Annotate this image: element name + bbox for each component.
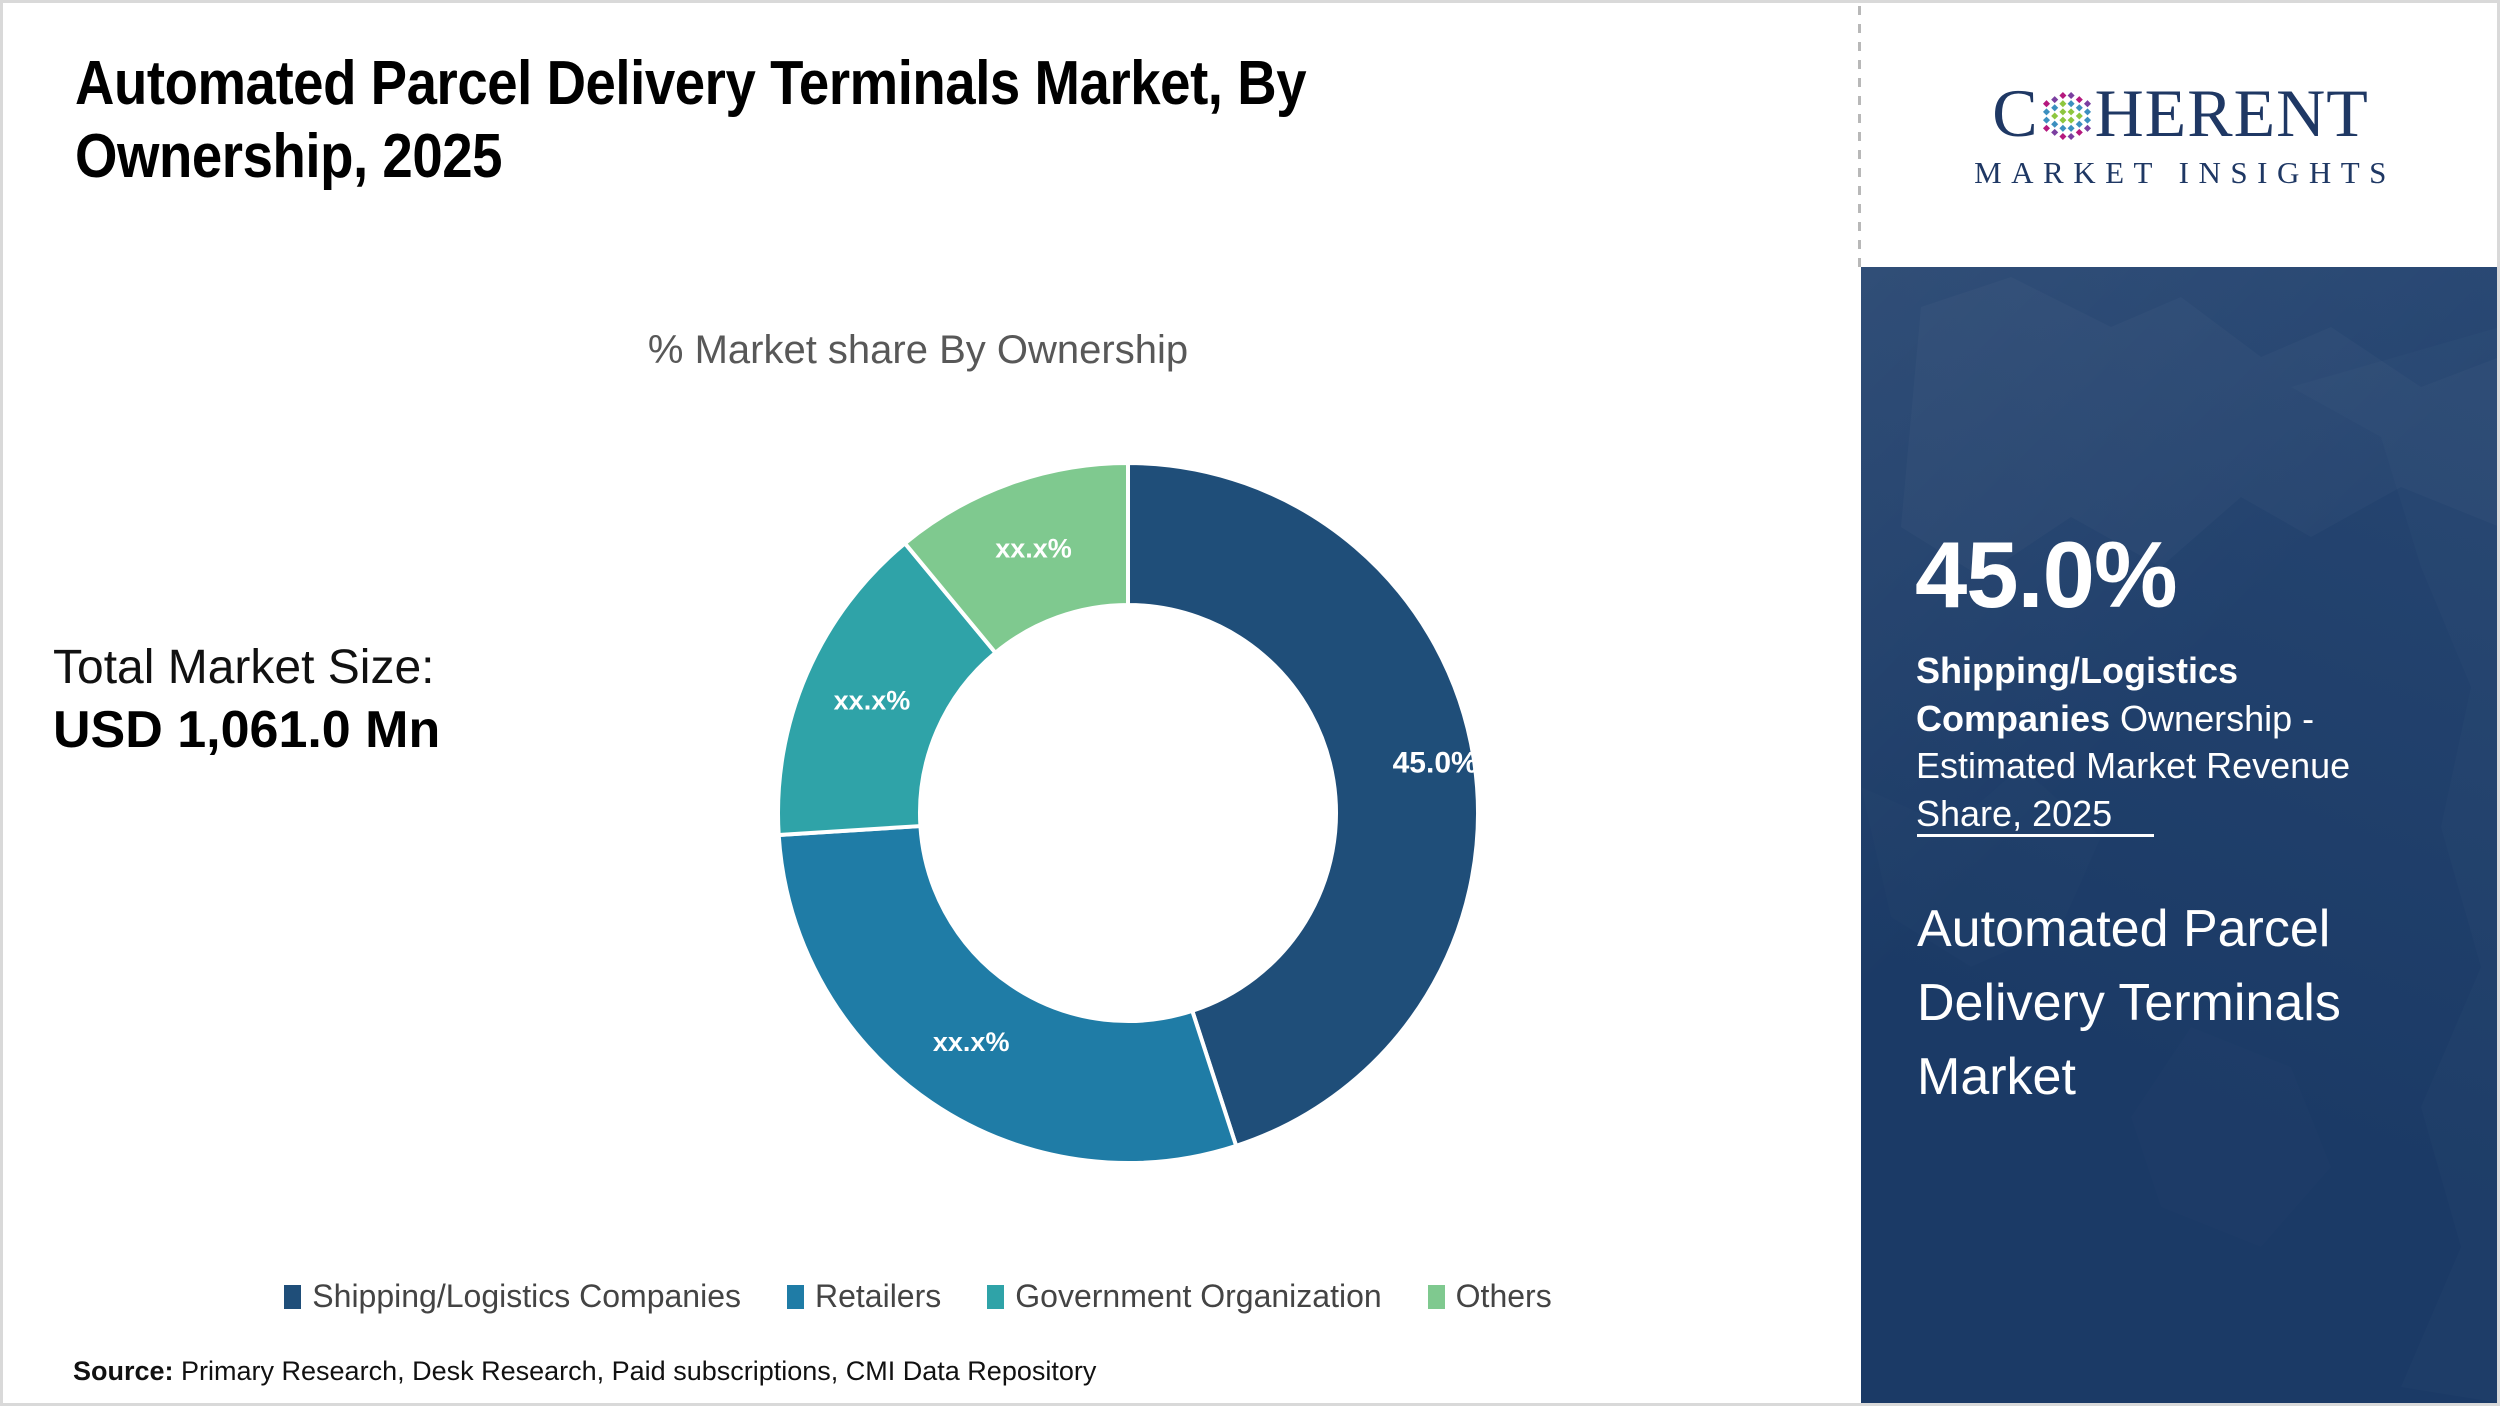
- globe-dot: [2067, 108, 2074, 115]
- globe-dot: [2051, 96, 2058, 103]
- globe-dot: [2084, 100, 2091, 107]
- source-label: Source:: [73, 1356, 174, 1386]
- legend-item[interactable]: Government Organization: [987, 1278, 1381, 1315]
- infographic-page: Automated Parcel Delivery Terminals Mark…: [0, 0, 2500, 1406]
- logo-letters-rest: HERENT: [2095, 79, 2369, 147]
- globe-dot: [2059, 117, 2066, 124]
- globe-dot: [2067, 133, 2074, 140]
- logo-letter-c: C: [1992, 79, 2038, 147]
- globe-dot: [2084, 108, 2091, 115]
- legend-swatch-icon: [1428, 1285, 1445, 1309]
- globe-dot: [2043, 100, 2050, 107]
- globe-dot: [2043, 125, 2050, 132]
- source-text: Primary Research, Desk Research, Paid su…: [174, 1356, 1097, 1386]
- globe-dot: [2067, 125, 2074, 132]
- globe-dots-icon: [2041, 86, 2093, 140]
- legend-item[interactable]: Retailers: [787, 1278, 941, 1315]
- panel-market-name: Automated Parcel Delivery Terminals Mark…: [1917, 893, 2477, 1114]
- chart-legend: Shipping/Logistics CompaniesRetailersGov…: [3, 1278, 1833, 1315]
- globe-dot: [2067, 117, 2074, 124]
- donut-chart: 45.0%xx.x%xx.x%xx.x%: [773, 458, 1483, 1168]
- donut-slice-label: xx.x%: [834, 685, 911, 715]
- globe-dot: [2075, 129, 2082, 136]
- globe-dot: [2051, 112, 2058, 119]
- globe-dot: [2084, 117, 2091, 124]
- globe-dot: [2075, 112, 2082, 119]
- total-market-size-value: USD 1,061.0 Mn: [53, 698, 673, 763]
- stat-percentage: 45.0%: [1915, 528, 2177, 622]
- legend-swatch-icon: [787, 1285, 804, 1309]
- globe-dot: [2059, 100, 2066, 107]
- chart-area: Automated Parcel Delivery Terminals Mark…: [3, 3, 1860, 1403]
- globe-dot: [2075, 96, 2082, 103]
- globe-dot: [2051, 121, 2058, 128]
- legend-item[interactable]: Shipping/Logistics Companies: [284, 1278, 741, 1315]
- legend-label: Government Organization: [1015, 1278, 1381, 1315]
- legend-swatch-icon: [987, 1285, 1004, 1309]
- legend-label: Others: [1456, 1278, 1552, 1315]
- globe-dot: [2075, 121, 2082, 128]
- stat-description: Shipping/Logistics Companies Ownership -…: [1916, 647, 2416, 837]
- total-market-size-block: Total Market Size: USD 1,061.0 Mn: [53, 638, 673, 763]
- brand-logo: C HERENT MARKET INSIGHTS: [1861, 3, 2500, 267]
- donut-slice-label: 45.0%: [1393, 746, 1478, 779]
- globe-dot: [2051, 104, 2058, 111]
- globe-dot: [2059, 125, 2066, 132]
- globe-dot: [2059, 108, 2066, 115]
- donut-slice: [779, 826, 1236, 1163]
- highlight-panel: 45.0% Shipping/Logistics Companies Owner…: [1861, 267, 2500, 1403]
- right-sidebar: C HERENT MARKET INSIGHTS 45.0% Shipping/…: [1861, 3, 2500, 1403]
- page-title: Automated Parcel Delivery Terminals Mark…: [75, 48, 1571, 193]
- globe-dot: [2084, 125, 2091, 132]
- logo-wordmark: C HERENT: [1992, 79, 2369, 147]
- legend-swatch-icon: [284, 1285, 301, 1309]
- logo-tagline: MARKET INSIGHTS: [1965, 155, 2396, 191]
- globe-dot: [2051, 129, 2058, 136]
- donut-slice-label: xx.x%: [933, 1027, 1010, 1057]
- source-note: Source: Primary Research, Desk Research,…: [73, 1356, 1096, 1387]
- total-market-size-label: Total Market Size:: [53, 638, 673, 698]
- globe-dot: [2075, 104, 2082, 111]
- globe-dot: [2067, 92, 2074, 99]
- legend-item[interactable]: Others: [1428, 1278, 1552, 1315]
- legend-label: Shipping/Logistics Companies: [312, 1278, 741, 1315]
- panel-divider-rule: [1917, 834, 2154, 837]
- globe-dot: [2043, 117, 2050, 124]
- donut-slices: [778, 463, 1478, 1163]
- globe-dot: [2043, 108, 2050, 115]
- chart-subtitle: % Market share By Ownership: [3, 328, 1833, 373]
- globe-dot: [2059, 92, 2066, 99]
- donut-slice-label: xx.x%: [995, 534, 1072, 564]
- donut-chart-svg: 45.0%xx.x%xx.x%xx.x%: [773, 458, 1483, 1168]
- globe-dot: [2067, 100, 2074, 107]
- globe-dot: [2059, 133, 2066, 140]
- legend-label: Retailers: [815, 1278, 941, 1315]
